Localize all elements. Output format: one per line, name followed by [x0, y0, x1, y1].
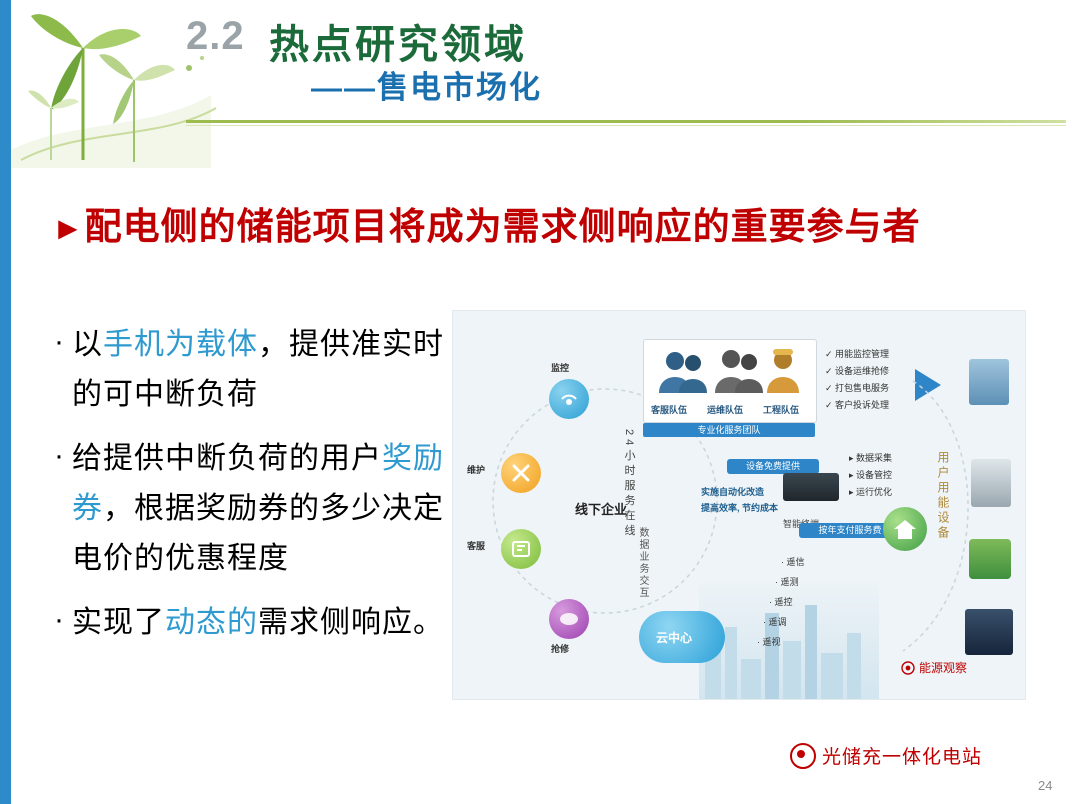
repair-node-icon — [549, 599, 589, 639]
offline-company-label: 线下企业 — [575, 499, 627, 518]
list-item: · 给提供中断负荷的用户奖励券，根据奖励券的多少决定电价的优惠程度 — [46, 434, 446, 584]
left-accent-bar — [0, 0, 11, 804]
bullet-text: 给提供中断负荷的用户奖励券，根据奖励券的多少决定电价的优惠程度 — [72, 434, 446, 584]
figure-watermark-text: 能源观察 — [919, 659, 967, 676]
header-section-number: 2.2 — [186, 14, 245, 59]
bullet-marker: · — [46, 598, 72, 642]
right-flow-arc — [753, 371, 1003, 671]
figure-watermark: 能源观察 — [901, 659, 967, 676]
team-label-0: 客服队伍 — [651, 403, 687, 416]
customer-service-node-icon — [501, 529, 541, 569]
header-divider-secondary — [186, 125, 1066, 126]
maintenance-node-icon — [501, 453, 541, 493]
ring-arc-text: 24小时服务在线 — [621, 429, 637, 539]
repair-node-label: 抢修 — [551, 642, 569, 655]
slide-header: 2.2 热点研究领域 ——售电市场化 — [11, 0, 1080, 172]
home-node-icon — [883, 507, 927, 551]
header-subtitle: ——售电市场化 — [311, 62, 542, 107]
customer-service-node-label: 客服 — [467, 539, 485, 552]
headline: ►配电侧的储能项目将成为需求侧响应的重要参与者 — [52, 196, 921, 250]
monitor-node-label: 监控 — [551, 361, 569, 374]
bullet-text-part: 给提供中断负荷的用户 — [72, 442, 382, 475]
diagram-image: 监控 维护 客服 抢修 24小时服务在线 线下企业 数据业务交互 云中心 — [452, 310, 1026, 700]
watermark-logo-icon — [790, 743, 816, 769]
footer-watermark-text: 光储充一体化电站 — [822, 742, 982, 769]
bullet-text-part: 以 — [72, 328, 103, 361]
service-item-0: ✓ 用能监控管理 — [825, 347, 889, 360]
slide: 2.2 热点研究领域 ——售电市场化 ►配电侧的储能项目将成为需求侧响应的重要参… — [0, 0, 1080, 804]
watermark-circle-icon — [901, 661, 915, 675]
bullet-text: 实现了动态的需求侧响应。 — [72, 598, 444, 648]
bullet-text-highlight: 动态的 — [165, 606, 258, 639]
headline-text: 配电侧的储能项目将成为需求侧响应的重要参与者 — [85, 206, 921, 247]
bullet-marker: · — [46, 434, 72, 478]
footer-watermark: 光储充一体化电站 — [790, 742, 982, 769]
list-item: · 以手机为载体，提供准实时的可中断负荷 — [46, 320, 446, 420]
maintenance-node-label: 维护 — [467, 463, 485, 476]
bullet-text-highlight: 手机为载体 — [103, 328, 258, 361]
cloud-center-label: 云中心 — [656, 629, 692, 646]
page-number: 24 — [1038, 778, 1052, 793]
header-divider — [186, 120, 1066, 123]
data-exchange-label: 数据业务交互 — [635, 527, 650, 599]
headline-marker: ► — [52, 210, 85, 246]
bullet-text: 以手机为载体，提供准实时的可中断负荷 — [72, 320, 446, 420]
list-item: · 实现了动态的需求侧响应。 — [46, 598, 446, 648]
monitor-node-icon — [549, 379, 589, 419]
bullet-text-part: 需求侧响应。 — [258, 606, 444, 639]
bullet-text-part: 实现了 — [72, 606, 165, 639]
team-label-1: 运维队伍 — [707, 403, 743, 416]
bullet-marker: · — [46, 320, 72, 364]
bullet-list: · 以手机为载体，提供准实时的可中断负荷 · 给提供中断负荷的用户奖励券，根据奖… — [46, 320, 446, 662]
bullet-text-part: ，根据奖励券的多少决定电价的优惠程度 — [72, 492, 444, 575]
